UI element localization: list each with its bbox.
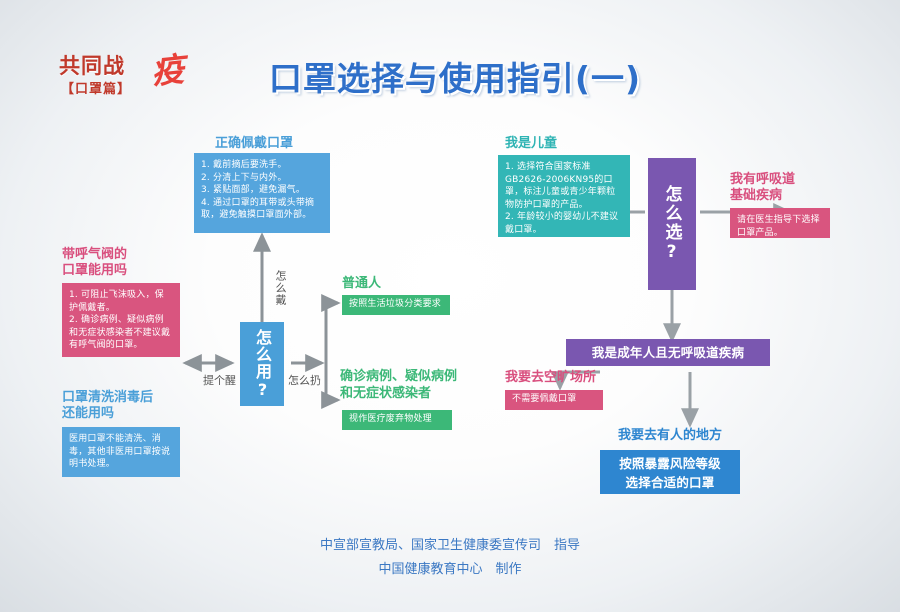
logo-main-text: 共同战 (59, 50, 125, 80)
clean-reuse-body: 医用口罩不能清洗、消毒，其他非医用口罩按说明书处理。 (62, 427, 180, 477)
ordinary-person-body: 按照生活垃圾分类要求 (342, 295, 450, 315)
confirmed-case-body: 视作医疗废弃物处理 (342, 410, 452, 430)
confirmed-case-title: 确诊病例、疑似病例 和无症状感染者 (340, 368, 457, 402)
valve-mask-title: 带呼气阀的 口罩能用吗 (62, 247, 127, 279)
respiratory-disease-title: 我有呼吸道 基础疾病 (730, 172, 795, 204)
open-space-title: 我要去空旷场所 (505, 370, 596, 386)
respiratory-disease-body: 请在医生指导下选择口罩产品。 (730, 208, 830, 238)
open-space-body: 不需要佩戴口罩 (505, 390, 603, 410)
wear-correctly-title: 正确佩戴口罩 (215, 136, 293, 152)
valve-mask-body: 1. 可阻止飞沫吸入，保护佩戴者。 2. 确诊病例、疑似病例和无症状感染者不建议… (62, 283, 180, 357)
branch-label-how-to-discard: 怎么扔 (288, 372, 321, 388)
crowded-place-body: 按照暴露风险等级 选择合适的口罩 (600, 450, 740, 494)
ordinary-person-title: 普通人 (342, 276, 381, 292)
campaign-logo: 共同战 疫 【口罩篇】 (55, 48, 190, 103)
clean-reuse-title: 口罩清洗消毒后 还能用吗 (62, 390, 153, 422)
adult-no-disease: 我是成年人且无呼吸道疾病 (566, 339, 770, 366)
page-title: 口罩选择与使用指引(一) (235, 52, 675, 100)
branch-label-how-to-wear: 怎么戴 (272, 270, 288, 306)
branch-label-reminder: 提个醒 (203, 372, 236, 388)
wear-correctly-body: 1. 戴前摘后要洗手。 2. 分清上下与内外。 3. 紧贴面部，避免漏气。 4.… (194, 153, 330, 233)
logo-sub-text: 【口罩篇】 (61, 78, 131, 97)
node-how-to-use: 怎么用? (240, 322, 284, 406)
footer-line-2: 中国健康教育中心 制作 (0, 557, 900, 583)
node-how-to-choose: 怎么选? (648, 158, 696, 290)
footer-line-1: 中宣部宣教局、国家卫生健康委宣传司 指导 (0, 533, 900, 559)
logo-accent-text: 疫 (149, 42, 187, 93)
child-title: 我是儿童 (505, 136, 557, 152)
child-body: 1. 选择符合国家标准GB2626-2006KN95的口罩，标注儿童或青少年颗粒… (498, 155, 630, 237)
crowded-place-title: 我要去有人的地方 (618, 428, 722, 444)
